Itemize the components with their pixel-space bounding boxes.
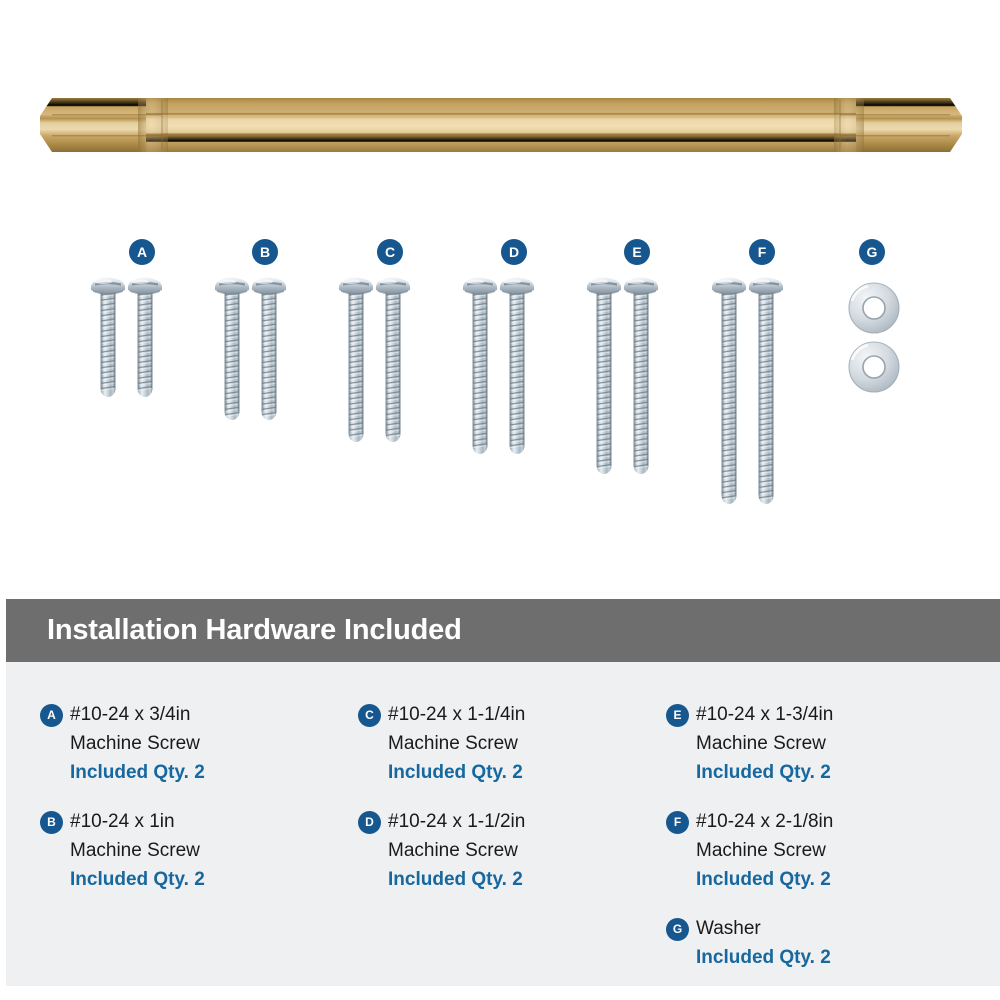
legend-item-f: F#10-24 x 2-1/8inMachine ScrewIncluded Q… [666,807,986,894]
legend-badge-a: A [40,704,63,727]
legend-spec: #10-24 x 1-1/2in [388,807,658,836]
legend-badge-f: F [666,811,689,834]
legend-spec: #10-24 x 1-3/4in [696,700,986,729]
screw-e-1 [587,278,621,475]
legend-spec: #10-24 x 2-1/8in [696,807,986,836]
product-hardware-page: ABCDEFG Installation Hardware Included A… [0,0,1000,1000]
diagram-badge-g: G [859,239,885,265]
screw-c-1 [339,278,373,443]
legend-type: Machine Screw [70,836,340,865]
legend-column-1: A#10-24 x 3/4inMachine ScrewIncluded Qty… [40,662,340,906]
legend-column-3: E#10-24 x 1-3/4inMachine ScrewIncluded Q… [666,662,986,984]
legend-type: Machine Screw [696,836,986,865]
legend-item-e: E#10-24 x 1-3/4inMachine ScrewIncluded Q… [666,700,986,787]
legend-qty: Included Qty. 2 [388,758,658,787]
screw-e-2 [624,278,658,475]
screw-f-1 [712,278,746,505]
legend-badge-e: E [666,704,689,727]
page-title: Installation Hardware Included [6,614,462,647]
screw-b-1 [215,278,249,421]
installation-hardware-header: Installation Hardware Included [6,599,1000,662]
legend-badge-g: G [666,918,689,941]
screw-d-2 [500,278,534,455]
legend-type: Machine Screw [388,836,658,865]
diagram-badge-d: D [501,239,527,265]
diagram-badge-b: B [252,239,278,265]
legend-qty: Included Qty. 2 [388,865,658,894]
legend-item-g: GWasherIncluded Qty. 2 [666,914,986,972]
product-image-area: ABCDEFG [0,0,1000,590]
bottom-margin [0,986,1000,1000]
legend-badge-c: C [358,704,381,727]
legend-qty: Included Qty. 2 [70,758,340,787]
screw-c-2 [376,278,410,443]
diagram-badge-e: E [624,239,650,265]
legend-column-2: C#10-24 x 1-1/4inMachine ScrewIncluded Q… [358,662,658,906]
legend-type: Machine Screw [388,729,658,758]
legend-qty: Included Qty. 2 [696,865,986,894]
legend-spec: #10-24 x 3/4in [70,700,340,729]
hardware-parts-svg [0,0,1000,560]
washer-2 [849,342,899,392]
washer-1 [849,283,899,333]
legend-spec: #10-24 x 1in [70,807,340,836]
screw-a-2 [128,278,162,398]
legend-item-c: C#10-24 x 1-1/4inMachine ScrewIncluded Q… [358,700,658,787]
legend-spec: #10-24 x 1-1/4in [388,700,658,729]
legend-type: Machine Screw [70,729,340,758]
legend-item-d: D#10-24 x 1-1/2inMachine ScrewIncluded Q… [358,807,658,894]
diagram-badge-a: A [129,239,155,265]
legend-qty: Included Qty. 2 [696,758,986,787]
legend-badge-b: B [40,811,63,834]
legend-type: Machine Screw [696,729,986,758]
legend-qty: Included Qty. 2 [70,865,340,894]
screw-f-2 [749,278,783,505]
legend-badge-d: D [358,811,381,834]
screw-b-2 [252,278,286,421]
diagram-badge-f: F [749,239,775,265]
legend-item-b: B#10-24 x 1inMachine ScrewIncluded Qty. … [40,807,340,894]
screw-a-1 [91,278,125,398]
legend-spec: Washer [696,914,986,943]
hardware-legend-panel: A#10-24 x 3/4inMachine ScrewIncluded Qty… [6,662,1000,986]
legend-item-a: A#10-24 x 3/4inMachine ScrewIncluded Qty… [40,700,340,787]
diagram-badge-c: C [377,239,403,265]
screw-d-1 [463,278,497,455]
legend-qty: Included Qty. 2 [696,943,986,972]
